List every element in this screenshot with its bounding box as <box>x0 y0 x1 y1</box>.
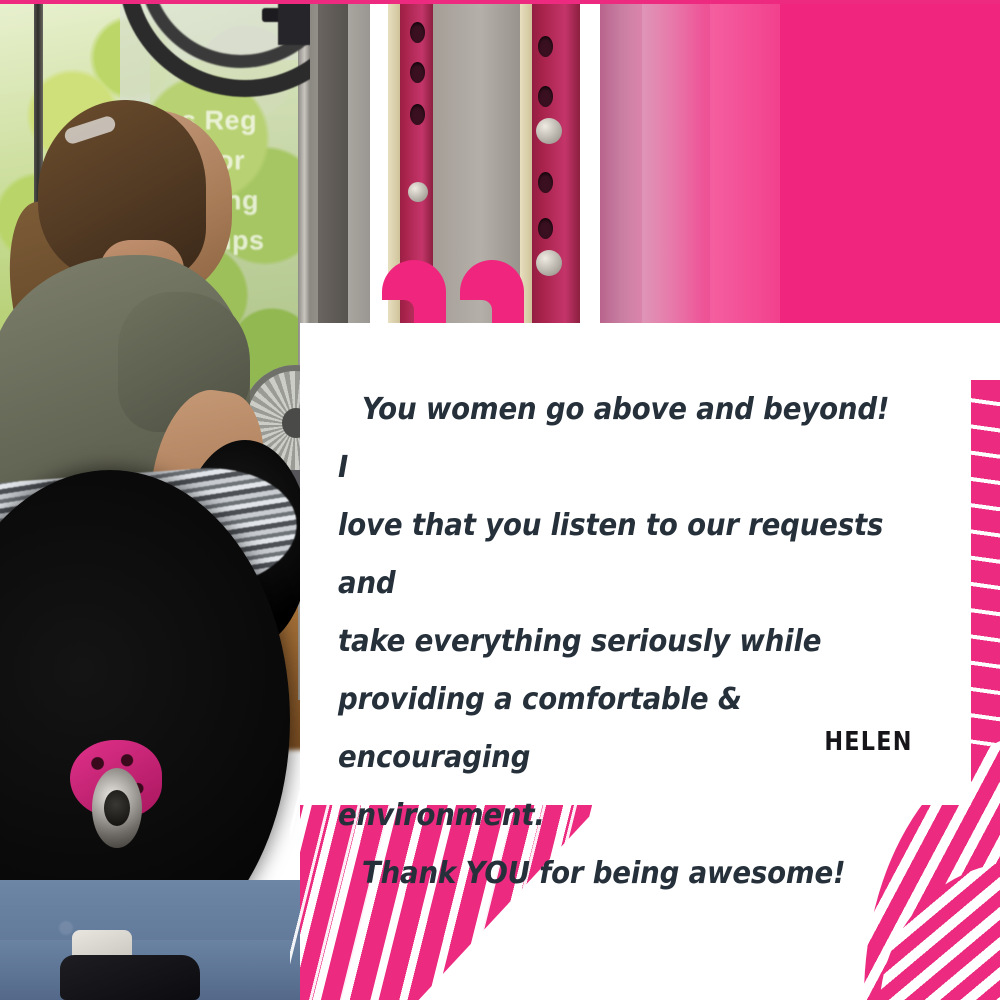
rack-hole <box>538 218 553 239</box>
rack-hole <box>410 22 425 43</box>
rack-hole <box>538 86 553 107</box>
rack-pin <box>408 182 428 202</box>
testimonial-graphic: ass Reg o Floor Training otcamps <box>0 0 1000 1000</box>
pink-top-accent-line <box>0 0 1000 4</box>
quote-line-2: love that you listen to our requests and <box>338 497 890 613</box>
quote-line-3: take everything seriously while <box>338 613 890 671</box>
rack-hole <box>410 62 425 83</box>
rack-hole <box>538 172 553 193</box>
quote-line-1: You women go above and beyond! I <box>338 381 890 497</box>
quote-text-block: You women go above and beyond! I love th… <box>338 381 890 903</box>
pink-solid-block <box>780 0 1000 323</box>
testimonial-card: You women go above and beyond! I love th… <box>300 323 971 805</box>
quote-line-6: Thank YOU for being awesome! <box>338 845 890 903</box>
attribution-name: HELEN <box>825 727 913 757</box>
rack-hole <box>538 36 553 57</box>
quote-line-4: providing a comfortable & encouraging <box>338 671 890 787</box>
quote-line-5: environment. <box>338 787 890 845</box>
rack-pin <box>536 118 562 144</box>
rack-hole <box>410 104 425 125</box>
barbell-bore <box>104 790 130 826</box>
person-shoe <box>60 955 200 1000</box>
rack-pin <box>536 250 562 276</box>
interior-wall-shadow <box>318 0 348 330</box>
